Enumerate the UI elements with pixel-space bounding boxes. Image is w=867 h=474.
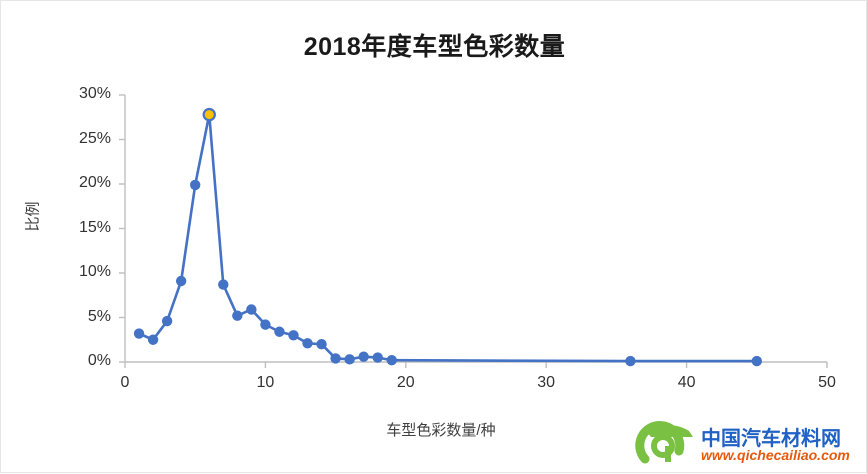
x-axis-tick-label: 0 [103,374,147,392]
series-marker [373,352,383,362]
y-axis-tick-label: 25% [55,130,111,148]
x-axis-tick-label: 50 [805,374,849,392]
series-marker [218,279,228,289]
series-line [139,115,757,362]
series-marker-highlighted [204,109,215,120]
site-watermark: 中国汽车材料网 www.qichecailiao.com [629,419,865,471]
plot-area: 比例 车型色彩数量/种 0%5%10%15%20%25%30% 01020304… [1,1,867,474]
series-markers [134,109,762,366]
series-marker [330,353,340,363]
y-axis-title: 比例 [22,200,43,234]
series-marker [246,304,256,314]
y-axis-tick-label: 5% [55,308,111,326]
series-marker [358,351,368,361]
series-marker [625,356,635,366]
series-marker [344,354,354,364]
chart-card: 2018年度车型色彩数量 比例 车型色彩数量/种 0%5%10%15%20%25… [0,0,867,473]
x-axis-tick-label: 20 [384,374,428,392]
x-axis-tick-label: 10 [243,374,287,392]
series-marker [260,319,270,329]
watermark-text-url: www.qichecailiao.com [701,447,850,463]
x-axis-tickmarks [125,362,827,368]
series-marker [752,356,762,366]
x-axis-tick-label: 40 [665,374,709,392]
series-marker [387,355,397,365]
x-axis-title: 车型色彩数量/种 [281,419,601,440]
y-axis-tick-label: 15% [55,219,111,237]
y-axis-tick-label: 0% [55,352,111,370]
y-axis-tick-label: 30% [55,85,111,103]
y-axis-tickmarks [119,95,125,362]
axes [125,95,827,362]
series-marker [316,339,326,349]
series-marker [162,316,172,326]
x-axis-tick-label: 30 [524,374,568,392]
series-marker [176,276,186,286]
line-chart-svg [1,1,867,474]
series-marker [148,335,158,345]
qichecailiao-logo-icon [629,419,699,469]
series-marker [274,327,284,337]
y-axis-tick-label: 10% [55,263,111,281]
series-marker [232,311,242,321]
series-marker [190,180,200,190]
series-marker [134,328,144,338]
series-marker [302,338,312,348]
y-axis-tick-label: 20% [55,174,111,192]
series-marker [288,330,298,340]
